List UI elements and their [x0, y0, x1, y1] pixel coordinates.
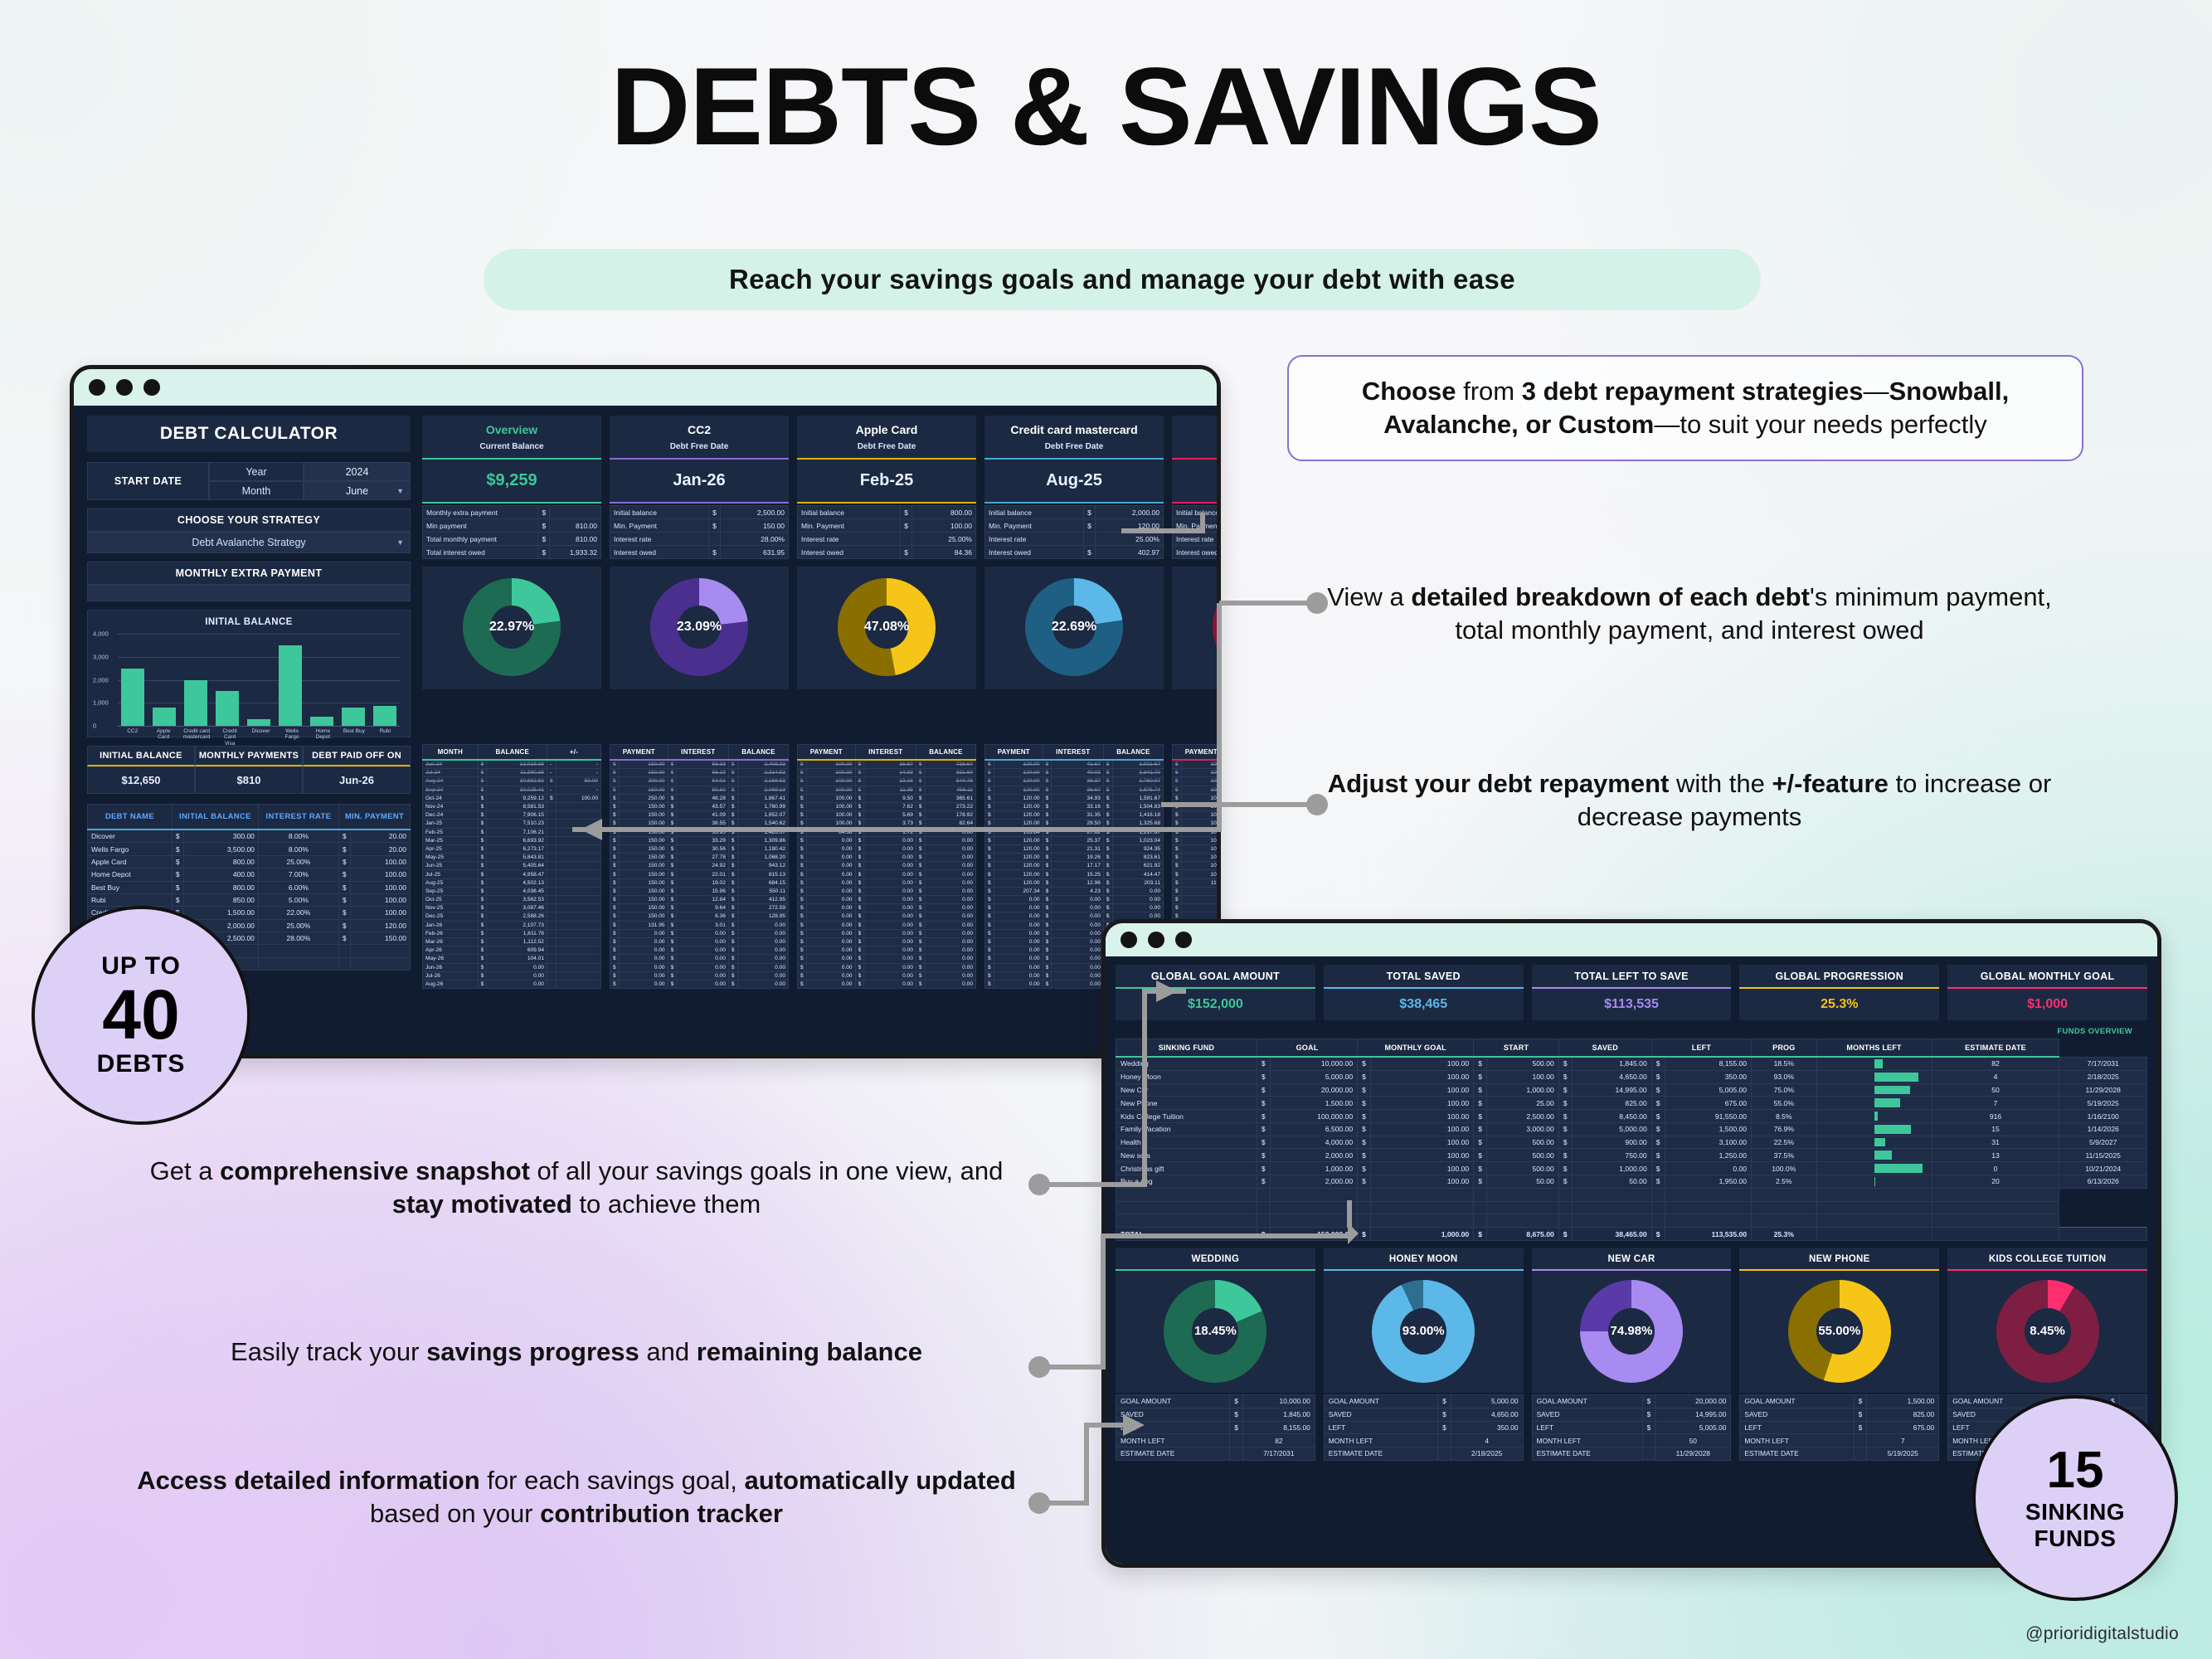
currency-symbol: $ [1257, 1070, 1270, 1083]
goal-cards-row: WEDDING18.45%GOAL AMOUNT$10,000.00SAVED$… [1116, 1248, 2147, 1461]
currency-symbol: $ [985, 896, 994, 904]
column-header: SINKING FUND [1116, 1039, 1257, 1058]
payment-cell: 0.00 [806, 912, 855, 921]
month-cell: Jun-26 [423, 963, 479, 971]
currency-symbol: $ [1438, 1421, 1451, 1434]
start-cell: 100.00 [1486, 1070, 1558, 1083]
currency-symbol: $ [1173, 836, 1182, 844]
currency-symbol: $ [728, 912, 737, 921]
table-row: $0.00$0.00$0.00 [985, 904, 1164, 912]
currency-symbol: $ [1558, 1070, 1572, 1083]
balance-cell: 2,588.26 [487, 912, 547, 921]
currency-symbol: $ [798, 971, 807, 980]
window-titlebar [74, 369, 1217, 406]
detail-label: Min. Payment [1173, 519, 1222, 533]
currency-symbol [709, 533, 721, 546]
adjust-cell [556, 769, 600, 777]
currency-symbol: $ [1474, 1083, 1487, 1097]
column-header: MONTHLY GOAL [1358, 1039, 1474, 1058]
balance-cell: 1,217.67 [1112, 828, 1163, 836]
currency-symbol: $ [798, 912, 807, 921]
detail-label: GOAL AMOUNT [1116, 1394, 1230, 1408]
currency-symbol: $ [985, 836, 994, 844]
payment-cell: 100.00 [1181, 862, 1221, 870]
window-minimize-icon[interactable] [1148, 932, 1164, 948]
currency-symbol: $ [798, 769, 807, 777]
goal-card-title: WEDDING [1116, 1248, 1315, 1269]
currency-symbol: $ [478, 786, 487, 794]
debt-card-title: CC2 [610, 416, 789, 438]
estimate-date-cell: 6/13/2026 [2059, 1175, 2147, 1189]
fund-name-cell: Honey Moon [1116, 1070, 1257, 1083]
adjust-cell [556, 802, 600, 810]
start-cell: 2,500.00 [1486, 1110, 1558, 1123]
window-maximize-icon[interactable] [143, 379, 160, 396]
monthly-cell: 100.00 [1370, 1070, 1473, 1083]
adjust-cell [556, 828, 600, 836]
currency-symbol: $ [985, 811, 994, 820]
currency-symbol: $ [1103, 828, 1112, 836]
progress-bar [1874, 1177, 1875, 1186]
currency-symbol: $ [338, 893, 350, 906]
currency-symbol: $ [916, 844, 925, 853]
detail-label: Min payment [423, 519, 538, 533]
currency-symbol: $ [1043, 946, 1052, 955]
debt-donut-chart: 23.09% [650, 578, 748, 676]
currency-symbol: $ [610, 929, 620, 937]
currency-symbol: $ [610, 760, 620, 769]
detail-value: 150.00 [720, 519, 788, 533]
debt-name-cell: Rubi [88, 893, 173, 906]
table-row-empty [1116, 1188, 2147, 1201]
progress-percent-cell: 100.0% [1752, 1162, 1816, 1175]
interest-cell: 43.57 [677, 802, 729, 810]
badge-up-to-40-debts: UP TO 40 DEBTS [32, 906, 250, 1125]
currency-symbol: $ [338, 868, 350, 881]
left-cell: 350.00 [1665, 1070, 1752, 1083]
min-payment-cell: 100.00 [350, 893, 410, 906]
table-row: $0.00$0.00$0.00 [610, 963, 789, 971]
table-header-row: PAYMENTINTERESTBALANCE [798, 745, 976, 761]
detail-value: 1,845.00 [1242, 1408, 1315, 1421]
table-row: $207.34$4.23$0.00 [985, 887, 1164, 895]
currency-symbol: $ [1103, 786, 1112, 794]
empty-cell [1116, 1188, 1257, 1201]
currency-symbol: $ [1103, 896, 1112, 904]
currency-symbol: $ [855, 811, 864, 820]
table-header-row: PAYMENTINTERESTBALANCE [610, 745, 789, 761]
payment-cell: 0.00 [619, 971, 668, 980]
table-row: Min. Payment$120.00 [985, 519, 1164, 533]
currency-symbol: $ [1474, 1228, 1487, 1241]
currency-symbol [547, 929, 556, 937]
empty-cell [258, 957, 338, 970]
goal-cell: 20,000.00 [1270, 1083, 1358, 1097]
summary-value: $12,650 [87, 766, 195, 794]
debt-card-subtitle: Current Balance [422, 438, 601, 458]
donut-wrapper: 22.69% [984, 567, 1164, 689]
extra-payment-input[interactable] [87, 585, 411, 601]
currency-symbol: $ [1043, 896, 1052, 904]
currency-symbol [547, 946, 556, 955]
chart-x-tick: Dicover [250, 728, 272, 747]
currency-symbol: $ [478, 878, 487, 887]
payment-cell: 0.00 [806, 921, 855, 929]
adjust-cell [556, 811, 600, 820]
currency-symbol: $ [1043, 904, 1052, 912]
emphasis-text: contribution tracker [540, 1499, 783, 1528]
payment-cell: 120.00 [994, 862, 1043, 870]
interest-cell: 38.37 [1052, 777, 1104, 786]
kpi-card: TOTAL LEFT TO SAVE$113,535 [1532, 965, 1732, 1020]
kpi-value: 25.3% [1739, 989, 1939, 1020]
goal-donut-chart: 18.45% [1164, 1280, 1266, 1383]
debt-card-title: Apple Card [797, 416, 976, 438]
currency-symbol: $ [1103, 870, 1112, 878]
interest-cell: 0.00 [864, 937, 916, 946]
payment-cell: 0.00 [1181, 887, 1221, 895]
balance-cell: 0.00 [737, 946, 788, 955]
table-row: $100.00$27.50$1,427.50 [1173, 760, 1222, 769]
payment-cell: 135.84 [994, 828, 1043, 836]
interest-cell: 0.00 [1052, 946, 1104, 955]
currency-symbol: $ [728, 946, 737, 955]
empty-cell [1651, 1214, 1665, 1228]
table-row: $200.00$54.01$2,168.53 [610, 777, 789, 786]
currency-symbol: $ [1474, 1122, 1487, 1136]
currency-symbol: $ [538, 506, 550, 519]
table-row: $120.00$33.16$1,504.83 [985, 802, 1164, 810]
currency-symbol: $ [985, 937, 994, 946]
goal-cell: 2,000.00 [1270, 1175, 1358, 1189]
debt-card-details: Initial balance$800.00Min. Payment$100.0… [797, 505, 976, 559]
detail-label: LEFT [1324, 1421, 1437, 1434]
currency-symbol [1854, 1434, 1867, 1447]
balance-cell: 1,760.07 [1112, 777, 1163, 786]
note-detailed-breakdown: View a detailed breakdown of each debt's… [1304, 581, 2075, 647]
progress-bar-cell [1816, 1136, 1932, 1149]
table-row: Wells Fargo$3,500.008.00%$20.00 [88, 843, 411, 855]
currency-symbol [1438, 1447, 1451, 1461]
body-text: to achieve them [572, 1190, 761, 1219]
currency-symbol: $ [547, 794, 556, 802]
balance-cell: 1,591.67 [1112, 794, 1163, 802]
currency-symbol: $ [1358, 1149, 1371, 1162]
currency-symbol: $ [855, 878, 864, 887]
detail-label: Interest owed [985, 546, 1084, 559]
balance-cell: 4,958.47 [487, 870, 547, 878]
currency-symbol: $ [668, 929, 677, 937]
currency-symbol: $ [1103, 760, 1112, 769]
currency-symbol: $ [798, 862, 807, 870]
table-row: Nov-24$8,581.53 [423, 802, 601, 810]
currency-symbol: $ [610, 887, 620, 895]
table-row: $0.00$0.00$0.00 [610, 955, 789, 963]
empty-cell [1932, 1188, 2059, 1201]
kpi-value: $1,000 [1947, 989, 2147, 1020]
debt-card-subtitle: Debt Free Date [797, 438, 976, 458]
progress-percent-cell: 55.0% [1752, 1097, 1816, 1110]
currency-symbol: $ [610, 946, 620, 955]
balance-cell: 0.00 [925, 980, 975, 988]
progress-bar [1874, 1112, 1879, 1121]
currency-symbol: $ [855, 955, 864, 963]
currency-symbol: $ [1257, 1228, 1270, 1241]
balance-cell: 1,416.18 [1112, 811, 1163, 820]
table-row: Interest owed$631.95 [610, 546, 789, 559]
detail-label: Interest owed [1173, 546, 1222, 559]
month-cell: Jan-25 [423, 820, 479, 828]
currency-symbol: $ [1558, 1162, 1572, 1175]
interest-cell: 0.00 [864, 836, 916, 844]
currency-symbol: $ [1358, 1228, 1371, 1241]
currency-symbol: $ [728, 786, 737, 794]
month-select[interactable]: June ▼ [304, 481, 411, 500]
table-row: Total monthly payment$810.00 [423, 533, 601, 546]
interest-cell: 0.00 [1052, 963, 1104, 971]
start-cell: 500.00 [1486, 1149, 1558, 1162]
currency-symbol: $ [985, 802, 994, 810]
goal-cell: 1,000.00 [1270, 1162, 1358, 1175]
currency-symbol: $ [1642, 1421, 1655, 1434]
debt-summary-strip: INITIAL BALANCE$12,650MONTHLY PAYMENTS$8… [87, 746, 411, 794]
table-row: $150.00$30.56$1,190.42 [610, 844, 789, 853]
balance-cell: 3,562.53 [487, 896, 547, 904]
balance-cell: 943.12 [737, 862, 788, 870]
balance-cell: 0.00 [1112, 887, 1163, 895]
goal-card: HONEY MOON93.00%GOAL AMOUNT$5,000.00SAVE… [1324, 1248, 1524, 1461]
chart-title: INITIAL BALANCE [93, 617, 405, 627]
currency-symbol: $ [798, 820, 807, 828]
currency-symbol: $ [901, 546, 912, 559]
amort-block-apple-card: PAYMENTINTERESTBALANCE$100.00$16.67$716.… [797, 744, 976, 1058]
interest-cell: 50.60 [677, 786, 729, 794]
currency-symbol: $ [728, 844, 737, 853]
currency-symbol: $ [478, 929, 487, 937]
progress-percent-cell: 2.5% [1752, 1175, 1816, 1189]
body-text: View a [1327, 582, 1411, 611]
chart-bar [184, 680, 207, 727]
chart-bar [121, 669, 144, 726]
currency-symbol: $ [1358, 1136, 1371, 1149]
column-header: BALANCE [478, 745, 547, 761]
interest-cell: 0.00 [864, 862, 916, 870]
detail-value: 2,500.00 [720, 506, 788, 519]
payment-cell: 100.00 [1181, 870, 1221, 878]
currency-symbol: $ [610, 794, 620, 802]
currency-symbol: $ [916, 802, 925, 810]
interest-cell: 15.96 [677, 887, 729, 895]
estimate-date-cell: 7/17/2031 [2059, 1057, 2147, 1070]
balance-cell: 1,676.74 [1112, 786, 1163, 794]
currency-symbol: $ [1651, 1149, 1665, 1162]
currency-symbol: $ [916, 794, 925, 802]
balance-cell: 412.95 [737, 896, 788, 904]
table-row: MONTH LEFT 82 [1116, 1434, 1315, 1447]
badge-debts-line2: 40 [102, 982, 179, 1048]
currency-symbol: $ [1230, 1394, 1243, 1408]
goal-card: WEDDING18.45%GOAL AMOUNT$10,000.00SAVED$… [1116, 1248, 1315, 1461]
interest-rate-cell: 5.00% [258, 893, 338, 906]
fund-name-cell: Christmas gift [1116, 1162, 1257, 1175]
goal-cell: 5,000.00 [1270, 1070, 1358, 1083]
currency-symbol: $ [478, 836, 487, 844]
interest-cell: 0.00 [1052, 955, 1104, 963]
currency-symbol: $ [1558, 1122, 1572, 1136]
payment-cell: 0.00 [994, 896, 1043, 904]
currency-symbol: $ [1438, 1394, 1451, 1408]
currency-symbol: $ [668, 844, 677, 853]
month-cell: Jul-26 [423, 971, 479, 980]
interest-cell: 3.01 [677, 921, 729, 929]
currency-symbol: $ [172, 881, 183, 893]
balance-cell: 0.00 [925, 862, 975, 870]
currency-symbol: $ [798, 811, 807, 820]
balance-cell: 550.11 [737, 887, 788, 895]
currency-symbol: $ [985, 862, 994, 870]
table-row: ESTIMATE DATE 5/19/2025 [1740, 1447, 1939, 1461]
detail-value: 11/29/2028 [1655, 1447, 1731, 1461]
empty-cell [1651, 1188, 1665, 1201]
payment-cell: 100.00 [1181, 786, 1221, 794]
currency-symbol: $ [728, 828, 737, 836]
interest-cell: 0.00 [864, 955, 916, 963]
note-comprehensive-snapshot: Get a comprehensive snapshot of all your… [124, 1155, 1028, 1221]
payment-cell: 0.00 [806, 955, 855, 963]
table-row: $100.00$23.44$1,201.92 [1173, 786, 1222, 794]
currency-symbol: $ [985, 963, 994, 971]
table-row: Interest owed [1173, 546, 1222, 559]
months-left-cell: 0 [1932, 1162, 2059, 1175]
table-row: GOAL AMOUNT$10,000.00 [1116, 1394, 1315, 1408]
emphasis-text: automatically updated [744, 1466, 1015, 1495]
balance-cell: 1,867.41 [737, 794, 788, 802]
interest-cell: 16.67 [864, 760, 916, 769]
table-row: Aug-25$4,502.13 [423, 878, 601, 887]
months-left-cell: 4 [1932, 1070, 2059, 1083]
body-text: — [1864, 377, 1889, 406]
table-row: SAVED$1,845.00 [1116, 1408, 1315, 1421]
months-left-cell: 13 [1932, 1149, 2059, 1162]
interest-cell: 0.00 [1052, 912, 1104, 921]
table-row: LEFT$675.00 [1740, 1421, 1939, 1434]
kpi-value: $38,465 [1324, 989, 1524, 1020]
table-row: Jun-24$12,019.38 [423, 760, 601, 769]
payment-cell: 150.00 [619, 862, 668, 870]
summary-cell: MONTHLY PAYMENTS$810 [195, 746, 303, 794]
adjust-cell [556, 862, 600, 870]
column-header: INTEREST [1043, 745, 1103, 761]
month-cell: Sep-25 [423, 887, 479, 895]
left-cell: 5,005.00 [1665, 1083, 1752, 1097]
chart-y-tick: 0 [93, 722, 96, 730]
donut-percent-label: 18.45% [1194, 1324, 1237, 1338]
chart-y-tick: 1,000 [93, 699, 109, 707]
currency-symbol: $ [610, 836, 620, 844]
start-cell: 500.00 [1486, 1162, 1558, 1175]
payment-cell: 100.00 [806, 794, 855, 802]
min-payment-cell: 100.00 [350, 907, 410, 919]
year-value[interactable]: 2024 [304, 462, 411, 481]
table-row: LEFT$5,005.00 [1532, 1421, 1731, 1434]
table-row: New Car$20,000.00$100.00$1,000.00$14,995… [1116, 1083, 2147, 1097]
strategy-select[interactable]: Debt Avalanche Strategy ▼ [87, 532, 411, 553]
payment-cell: 100.00 [1181, 794, 1221, 802]
extra-payment-label: MONTHLY EXTRA PAYMENT [87, 562, 411, 585]
table-body: Wedding$10,000.00$100.00$500.00$1,845.00… [1116, 1057, 2147, 1240]
currency-symbol: $ [1043, 980, 1052, 988]
currency-symbol [547, 870, 556, 878]
interest-cell: 27.62 [1052, 828, 1104, 836]
payment-cell: 0.00 [806, 904, 855, 912]
balance-cell: 82.64 [925, 820, 975, 828]
currency-symbol: $ [1558, 1057, 1572, 1070]
table-row: $0.00$0.00$0.00 [798, 862, 976, 870]
currency-symbol: $ [798, 794, 807, 802]
badge-funds-line1: 15 [2047, 1445, 2104, 1496]
currency-symbol: $ [728, 878, 737, 887]
currency-symbol: $ [478, 912, 487, 921]
currency-symbol: $ [1173, 786, 1182, 794]
table-row: $0.00$0.00$0.00 [798, 904, 976, 912]
kpi-card: GLOBAL PROGRESSION25.3% [1739, 965, 1939, 1020]
currency-symbol: $ [478, 777, 487, 786]
currency-symbol: $ [1103, 802, 1112, 810]
debt-sheet: DEBT CALCULATOR START DATE Year 2024 Mon… [74, 406, 1217, 1058]
table-row: $0.00$0.00$0.00 [1173, 904, 1222, 912]
detail-value: 100.00 [912, 519, 975, 533]
currency-symbol: $ [798, 844, 807, 853]
amortization-tables: MONTHBALANCE+/-Jun-24$12,019.38 Jul-24$1… [422, 744, 1217, 1058]
payment-cell: 150.00 [619, 836, 668, 844]
interest-cell: 41.67 [1052, 760, 1104, 769]
detail-value: 20,000.00 [1655, 1394, 1731, 1408]
balance-cell: 0.00 [925, 955, 975, 963]
currency-symbol: $ [610, 912, 620, 921]
adjust-cell: 50.00 [556, 777, 600, 786]
goal-card-details: GOAL AMOUNT$10,000.00SAVED$1,845.00LEFT$… [1116, 1394, 1315, 1461]
window-maximize-icon[interactable] [1175, 932, 1192, 948]
fund-name-cell: Family Vacation [1116, 1122, 1257, 1136]
payment-cell: 150.00 [619, 896, 668, 904]
table-row: $100.00$24.82$1,278.49 [1173, 777, 1222, 786]
currency-symbol: $ [478, 921, 487, 929]
window-close-icon[interactable] [89, 379, 105, 396]
chevron-down-icon: ▼ [396, 538, 404, 547]
start-cell: 1,000.00 [1486, 1083, 1558, 1097]
column-header: +/- [547, 745, 600, 761]
currency-symbol: $ [709, 506, 721, 519]
table-row: Interest rate25.00% [985, 533, 1164, 546]
table-row: Sep-25$4,036.45 [423, 887, 601, 895]
currency-symbol: $ [916, 811, 925, 820]
page-subtitle-text: Reach your savings goals and manage your… [729, 264, 1515, 295]
chart-y-tick: 4,000 [93, 630, 109, 638]
window-minimize-icon[interactable] [116, 379, 133, 396]
currency-symbol: $ [1257, 1162, 1270, 1175]
amortization-overview-table: MONTHBALANCE+/-Jun-24$12,019.38 Jul-24$1… [422, 744, 601, 989]
emphasis-text: comprehensive snapshot [220, 1156, 530, 1185]
window-close-icon[interactable] [1121, 932, 1137, 948]
payment-cell: 100.00 [806, 820, 855, 828]
summary-cell: DEBT PAID OFF ONJun-26 [303, 746, 411, 794]
currency-symbol: $ [916, 955, 925, 963]
debt-card-details: Initial balanceMin. PaymentInterest rate… [1172, 505, 1221, 559]
payment-cell: 0.00 [806, 844, 855, 853]
monthly-cell: 100.00 [1370, 1122, 1473, 1136]
table-row: $100.00$19.15$963.72 [1173, 811, 1222, 820]
table-row: $100.00$5.69$178.92 [798, 811, 976, 820]
